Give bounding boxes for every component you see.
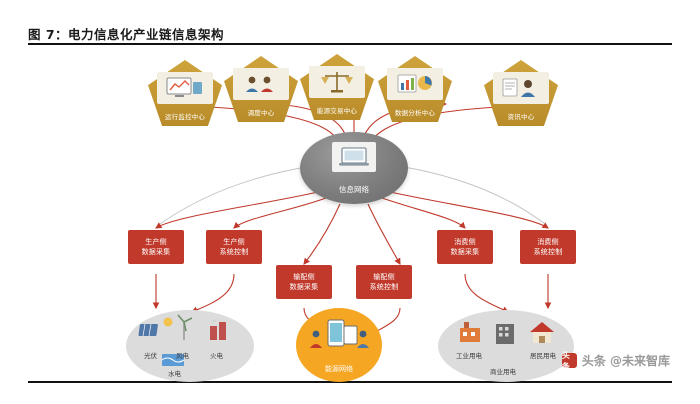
red-node-line1: 输配侧	[373, 272, 395, 282]
consumption-group[interactable]: 工业用电 居民用电 商业用电	[438, 310, 574, 382]
top-node-2[interactable]: 能源交易中心	[300, 54, 374, 120]
wind-turbine-icon	[178, 315, 192, 340]
monitor-chart-icon	[157, 72, 213, 104]
red-node-line1: 输配侧	[293, 272, 315, 282]
watermark-badge: 头条	[562, 353, 577, 368]
figure-page: 图 7：电力信息化产业链信息架构	[0, 0, 700, 404]
top-node-label: 资讯中心	[484, 111, 558, 121]
red-node-line1: 消费侧	[537, 237, 559, 247]
top-node-label: 调度中心	[224, 107, 298, 117]
house-icon	[530, 322, 554, 343]
thermal-plant-icon	[210, 321, 226, 340]
red-node-5[interactable]: 消费侧 系统控制	[520, 230, 576, 264]
top-node-3[interactable]: 数据分析中心	[378, 56, 452, 122]
factory-icon	[460, 322, 480, 342]
generation-item-label-1: 风电	[176, 350, 189, 360]
watermark-text: 头条 @未来智库	[582, 352, 670, 369]
generation-item-label-2: 火电	[210, 350, 223, 360]
red-node-line2: 数据采集	[290, 282, 319, 292]
red-node-line2: 系统控制	[370, 282, 399, 292]
red-node-line2: 数据采集	[451, 247, 480, 257]
generation-icons	[126, 310, 254, 382]
office-building-icon	[496, 324, 514, 344]
top-node-4[interactable]: 资讯中心	[484, 60, 558, 126]
red-node-2[interactable]: 输配侧 数据采集	[276, 265, 332, 299]
hub-label: 信息网络	[300, 184, 408, 195]
person-info-icon	[493, 72, 549, 104]
red-node-line1: 生产侧	[145, 237, 167, 247]
people-dispatch-icon	[233, 68, 289, 100]
energy-network-caption: 能源网络	[296, 364, 382, 374]
red-node-4[interactable]: 消费侧 数据采集	[437, 230, 493, 264]
generation-item-label-0: 光伏	[144, 350, 157, 360]
consumption-item-label-1: 居民用电	[530, 350, 556, 360]
red-node-3[interactable]: 输配侧 系统控制	[356, 265, 412, 299]
consumption-item-label-0: 工业用电	[456, 350, 482, 360]
red-node-line2: 数据采集	[142, 247, 171, 257]
top-node-label: 数据分析中心	[378, 107, 452, 117]
watermark: 头条 头条 @未来智库	[562, 352, 670, 369]
generation-group[interactable]: 光伏 风电 火电 水电	[126, 310, 254, 382]
red-node-0[interactable]: 生产侧 数据采集	[128, 230, 184, 264]
page-title: 图 7：电力信息化产业链信息架构	[28, 24, 224, 43]
hub-node[interactable]: 信息网络	[300, 132, 408, 204]
bottom-divider	[28, 381, 672, 383]
figure-header: 图 7：电力信息化产业链信息架构	[28, 24, 672, 43]
diagram-canvas: 运行监控中心 调度中心	[0, 46, 700, 381]
generation-item-label-3: 水电	[168, 368, 181, 378]
bar-chart-icon	[387, 68, 443, 100]
red-node-line1: 生产侧	[223, 237, 245, 247]
red-node-line1: 消费侧	[454, 237, 476, 247]
mobile-devices-icon	[296, 312, 382, 368]
consumption-item-label-2: 商业用电	[490, 366, 516, 376]
red-node-1[interactable]: 生产侧 系统控制	[206, 230, 262, 264]
red-node-line2: 系统控制	[534, 247, 563, 257]
top-node-label: 能源交易中心	[300, 105, 374, 115]
red-node-line2: 系统控制	[220, 247, 249, 257]
solar-panel-icon	[138, 318, 172, 337]
energy-network-group[interactable]: 能源网络	[296, 308, 382, 382]
title-divider	[28, 43, 672, 45]
balance-scale-icon	[309, 66, 365, 98]
top-node-label: 运行监控中心	[148, 111, 222, 121]
laptop-icon	[332, 142, 376, 172]
top-node-0[interactable]: 运行监控中心	[148, 60, 222, 126]
top-node-1[interactable]: 调度中心	[224, 56, 298, 122]
